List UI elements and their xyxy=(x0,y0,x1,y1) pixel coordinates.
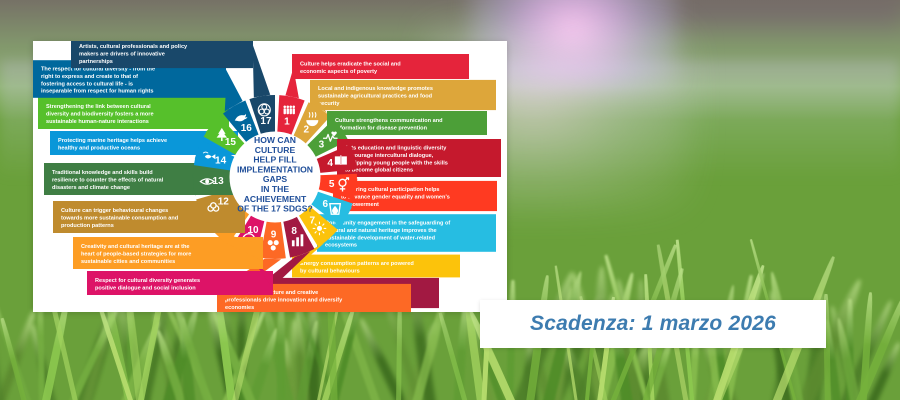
goal-label-text: Culture strengthens communication andinf… xyxy=(335,118,443,131)
deadline-text: Scadenza: 1 marzo 2026 xyxy=(530,312,776,336)
quality-education-book-icon xyxy=(335,155,347,165)
goal-label-text: Creativity and cultural heritage are at … xyxy=(81,244,191,265)
goal-number: 17 xyxy=(260,116,272,127)
goal-number: 16 xyxy=(241,123,253,134)
infographic-card: Culture helps eradicate the social andec… xyxy=(33,41,507,312)
goal-label-text: Strengthening the link between culturald… xyxy=(46,104,154,125)
sdg-goal-4: Arts education and linguistic diversitye… xyxy=(315,139,501,177)
goal-number: 5 xyxy=(329,179,335,190)
goal-number: 4 xyxy=(327,158,333,169)
poster-stage: Culture helps eradicate the social andec… xyxy=(0,0,900,400)
goal-number: 12 xyxy=(218,196,230,207)
sdg-goal-12: Culture can trigger behavioural changest… xyxy=(53,189,245,233)
affordable-energy-sun-icon xyxy=(313,222,327,236)
goal-label-text: Respect for cultural diversity generates… xyxy=(95,278,200,291)
goal-number: 14 xyxy=(215,155,227,166)
goal-number: 2 xyxy=(303,125,309,136)
goal-number: 8 xyxy=(291,226,297,237)
goal-connector xyxy=(253,45,270,97)
deadline-banner: Scadenza: 1 marzo 2026 xyxy=(480,300,826,348)
goal-number: 7 xyxy=(310,216,316,227)
goal-number: 15 xyxy=(225,137,237,148)
sdg-goal-13: Traditional knowledge and skills buildre… xyxy=(44,163,236,195)
goal-number: 6 xyxy=(323,199,329,210)
goal-number: 9 xyxy=(271,229,277,240)
sdg-culture-wheel: Culture helps eradicate the social andec… xyxy=(33,41,507,312)
goal-number: 1 xyxy=(284,117,290,128)
goal-number: 3 xyxy=(319,139,325,150)
